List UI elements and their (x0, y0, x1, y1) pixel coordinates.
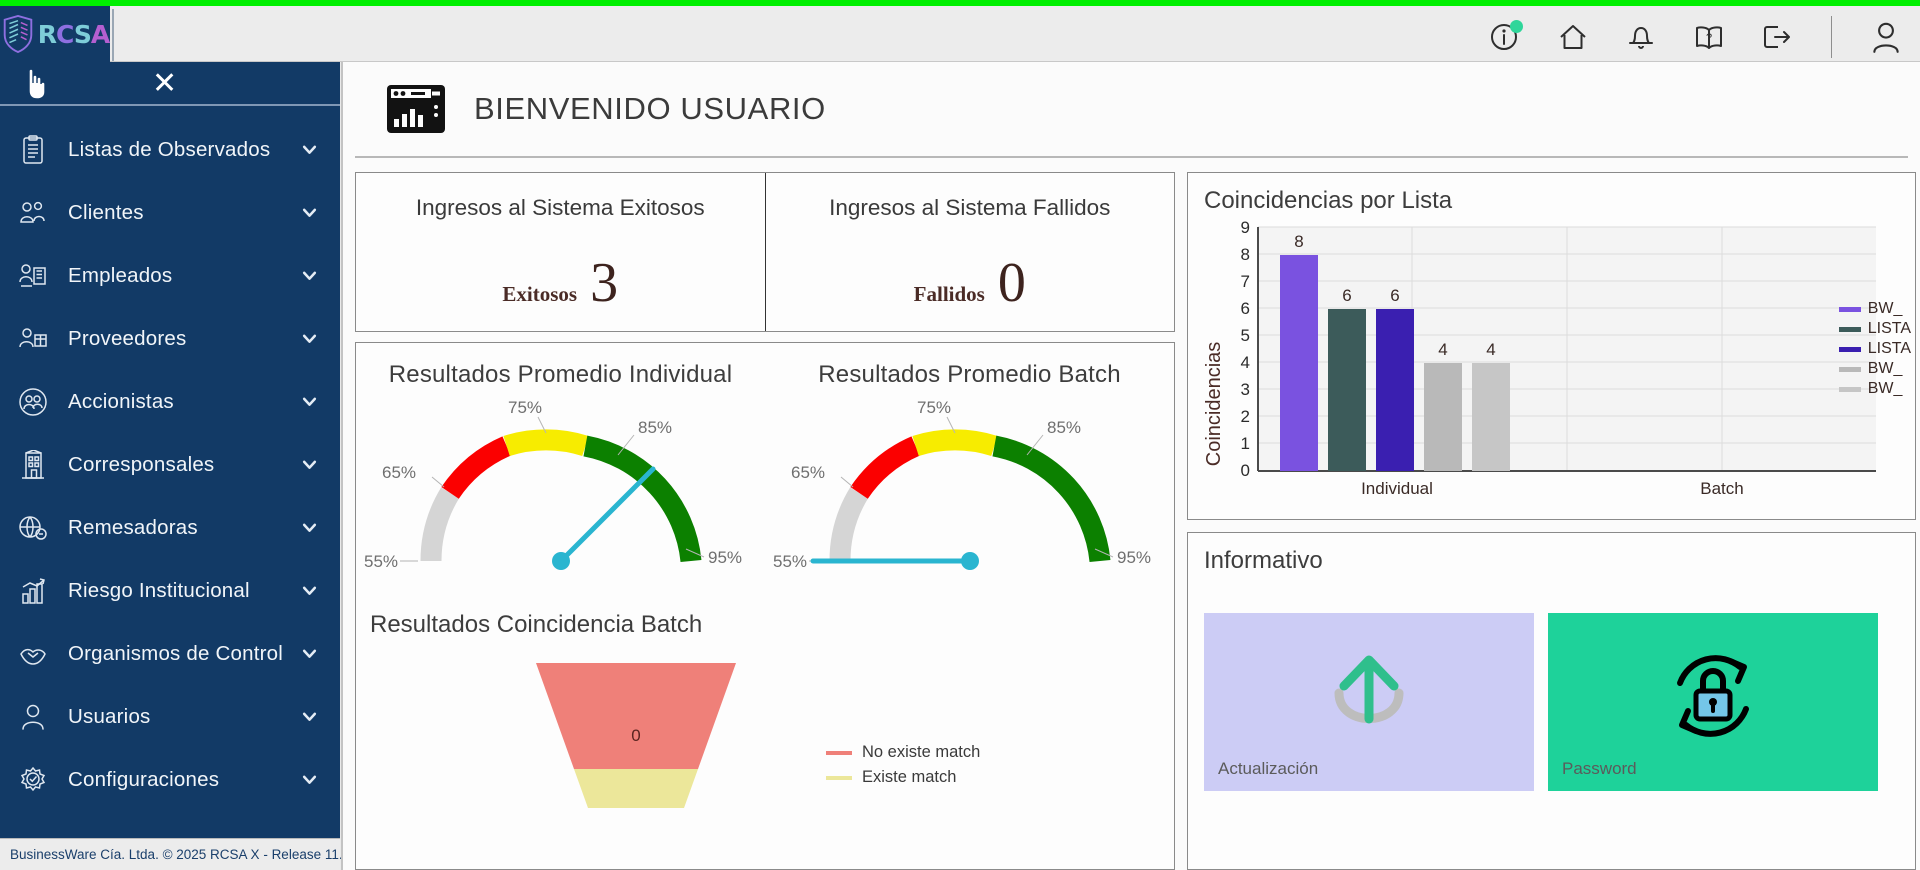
upload-arrow-icon (1204, 641, 1534, 751)
funnel-legend: No existe match Existe match (826, 743, 980, 793)
legend-item[interactable]: No existe match (826, 743, 980, 762)
brand-logo-text: RCSA (38, 22, 109, 47)
tile-password[interactable]: Password (1548, 613, 1878, 791)
supplier-box-icon (14, 322, 52, 356)
svg-text:?: ? (1706, 32, 1712, 44)
chevron-down-icon[interactable] (301, 204, 318, 221)
legend-swatch (826, 776, 852, 780)
legend-label: LISTA (1868, 320, 1911, 338)
legend-label: BW_ (1868, 300, 1903, 318)
svg-text:7: 7 (1241, 272, 1250, 291)
kpi-title: Ingresos al Sistema Fallidos (829, 195, 1110, 221)
pointer-cursor-icon (22, 68, 48, 100)
bar-chart-title: Coincidencias por Lista (1204, 187, 1915, 215)
legend-item[interactable]: BW_ (1839, 299, 1911, 319)
shareholders-circle-icon (14, 385, 52, 419)
bar-chart-legend: BW_ LISTA LISTA BW_ (1839, 299, 1911, 399)
funnel-chart-title: Resultados Coincidencia Batch (370, 611, 702, 639)
sidebar-item-usuarios[interactable]: Usuarios (0, 685, 340, 748)
gauge-tick-65: 65% (791, 463, 825, 482)
brand-logo[interactable]: RCSA (0, 6, 110, 62)
funnel-chart-svg: 0 (476, 663, 796, 863)
bar-value-label: 4 (1486, 340, 1495, 359)
gauge-tick-95: 95% (1117, 548, 1151, 567)
sidebar-item-label: Usuarios (68, 705, 301, 729)
sidebar-item-label: Organismos de Control (68, 642, 301, 666)
svg-text:4: 4 (1241, 353, 1250, 372)
tile-label: Password (1562, 759, 1637, 779)
bar-value-label: 6 (1390, 286, 1399, 305)
legend-item[interactable]: BW_ (1839, 359, 1911, 379)
clipboard-list-icon (14, 133, 52, 167)
legend-swatch (1839, 387, 1861, 392)
kpi-title: Ingresos al Sistema Exitosos (416, 195, 705, 221)
funnel-segment-existe-match (574, 769, 698, 808)
chevron-down-icon[interactable] (301, 771, 318, 788)
manual-icon[interactable]: ? (1689, 17, 1729, 57)
funnel-data-label: 0 (631, 726, 640, 745)
gauge-needle (552, 469, 653, 570)
sidebar-item-remesadoras[interactable]: Remesadoras (0, 496, 340, 559)
sidebar-header: ✕ (0, 62, 340, 106)
legend-item[interactable]: LISTA (1839, 319, 1911, 339)
legend-swatch (1839, 327, 1861, 332)
bar-chart-svg: Coincidencias (1202, 219, 1892, 509)
svg-text:6: 6 (1241, 299, 1250, 318)
gauge-svg: 55% 65% 75% 85% 95% (765, 391, 1175, 601)
globe-money-icon (14, 511, 52, 545)
welcome-header: BIENVENIDO USUARIO (355, 62, 1908, 158)
gauge-tick-55: 55% (773, 552, 807, 571)
legend-label: BW_ (1868, 360, 1903, 378)
bar-category-label: Individual (1361, 479, 1433, 498)
chevron-down-icon[interactable] (301, 141, 318, 158)
chevron-down-icon[interactable] (301, 393, 318, 410)
svg-text:9: 9 (1241, 219, 1250, 237)
svg-text:2: 2 (1241, 407, 1250, 426)
users-group-icon (14, 196, 52, 230)
legend-label: No existe match (862, 743, 980, 762)
legend-label: BW_ (1868, 380, 1903, 398)
bar-bw-2 (1424, 363, 1462, 471)
informativo-tiles: Actualización (1204, 613, 1915, 791)
kpi-ingresos-exitosos: Ingresos al Sistema Exitosos Exitosos 3 (356, 173, 765, 331)
chevron-down-icon[interactable] (301, 456, 318, 473)
rcsa-shield-icon (1, 15, 35, 53)
header-divider (1831, 16, 1832, 58)
logo-letter-a: A (91, 20, 109, 49)
sidebar-item-organismos-de-control[interactable]: Organismos de Control (0, 622, 340, 685)
sidebar-item-label: Accionistas (68, 390, 301, 414)
home-icon[interactable] (1553, 17, 1593, 57)
kpi-value: 3 (590, 261, 618, 306)
legend-item[interactable]: BW_ (1839, 379, 1911, 399)
sidebar-item-label: Riesgo Institucional (68, 579, 301, 603)
chevron-down-icon[interactable] (301, 330, 318, 347)
svg-text:5: 5 (1241, 326, 1250, 345)
dashboard-right-column: Coincidencias por Lista Coincidencias (1187, 172, 1916, 870)
bar-lista-1 (1328, 309, 1366, 471)
legend-swatch (1839, 307, 1861, 312)
sidebar-item-listas-de-observados[interactable]: Listas de Observados (0, 118, 340, 181)
info-icon[interactable] (1485, 17, 1525, 57)
dashboard-left-column: Ingresos al Sistema Exitosos Exitosos 3 … (355, 172, 1175, 870)
sidebar-item-label: Listas de Observados (68, 138, 301, 162)
bar-value-label: 4 (1438, 340, 1447, 359)
gauge-resultados-promedio-individual: Resultados Promedio Individual (356, 343, 765, 613)
gauge-tick-65: 65% (382, 463, 416, 482)
legend-item[interactable]: LISTA (1839, 339, 1911, 359)
user-avatar-icon[interactable] (1866, 17, 1906, 57)
main-sidebar: ✕ Listas de Observados Clientes (0, 62, 340, 870)
bank-building-icon (14, 448, 52, 482)
gauge-title: Resultados Promedio Batch (765, 343, 1174, 389)
tile-actualizacion[interactable]: Actualización (1204, 613, 1534, 791)
legend-swatch (1839, 347, 1861, 352)
sidebar-item-corresponsales[interactable]: Corresponsales (0, 433, 340, 496)
sidebar-item-riesgo-institucional[interactable]: Riesgo Institucional (0, 559, 340, 622)
gauge-tick-55: 55% (364, 552, 398, 571)
svg-text:0: 0 (1241, 461, 1250, 480)
kpi-ingresos-fallidos: Ingresos al Sistema Fallidos Fallidos 0 (765, 173, 1175, 331)
kpi-value: 0 (998, 261, 1026, 306)
legend-swatch (1839, 367, 1861, 372)
password-refresh-lock-icon (1548, 641, 1878, 751)
logo-letter-s: S (74, 20, 91, 49)
gauge-title: Resultados Promedio Individual (356, 343, 765, 389)
coincidencias-por-lista-card: Coincidencias por Lista Coincidencias (1187, 172, 1916, 520)
informativo-card: Informativo Actualización (1187, 532, 1916, 870)
main-content: BIENVENIDO USUARIO Ingresos al Sistema E… (341, 62, 1920, 870)
sidebar-item-clientes[interactable]: Clientes (0, 181, 340, 244)
bar-value-label: 6 (1342, 286, 1351, 305)
tile-label: Actualización (1218, 759, 1318, 779)
sidebar-item-label: Configuraciones (68, 768, 301, 792)
funnel-segment-no-existe-match (536, 663, 736, 769)
gauge-tick-75: 75% (917, 398, 951, 417)
sidebar-item-label: Corresponsales (68, 453, 301, 477)
chevron-down-icon[interactable] (301, 519, 318, 536)
user-icon (14, 700, 52, 734)
gauge-svg: 55% 65% 75% 85% 95% (356, 391, 766, 601)
gear-check-icon (14, 763, 52, 797)
sidebar-footer-copyright: BusinessWare Cía. Ltda. © 2025 RCSA X - … (0, 838, 340, 870)
legend-swatch (826, 751, 852, 755)
gauge-resultados-promedio-batch: Resultados Promedio Batch (765, 343, 1174, 613)
bar-chart-ylabel: Coincidencias (1203, 342, 1225, 467)
kpi-subtitle: Fallidos (914, 282, 985, 307)
chevron-down-icon[interactable] (301, 645, 318, 662)
kpi-card-group: Ingresos al Sistema Exitosos Exitosos 3 … (355, 172, 1175, 332)
sidebar-item-label: Clientes (68, 201, 301, 225)
legend-item[interactable]: Existe match (826, 768, 980, 787)
employee-badge-icon (14, 259, 52, 293)
sidebar-item-configuraciones[interactable]: Configuraciones (0, 748, 340, 811)
info-badge-dot (1510, 20, 1523, 33)
header-icon-bar: ? (1485, 12, 1920, 62)
svg-text:8: 8 (1241, 245, 1250, 264)
handshake-icon (14, 637, 52, 671)
page-title: BIENVENIDO USUARIO (474, 91, 826, 127)
chevron-down-icon[interactable] (301, 267, 318, 284)
informativo-title: Informativo (1204, 547, 1915, 575)
bar-category-label: Batch (1700, 479, 1743, 498)
gauge-tick-85: 85% (1047, 418, 1081, 437)
sidebar-item-label: Remesadoras (68, 516, 301, 540)
dashboard-window-icon (385, 81, 447, 137)
bell-icon[interactable] (1621, 17, 1661, 57)
logo-letter-r: R (38, 20, 56, 49)
svg-text:3: 3 (1241, 380, 1250, 399)
legend-label: LISTA (1868, 340, 1911, 358)
bar-lista-2 (1376, 309, 1414, 471)
sidebar-item-accionistas[interactable]: Accionistas (0, 370, 340, 433)
kpi-subtitle: Exitosos (502, 282, 577, 307)
bar-bw-3 (1472, 363, 1510, 471)
sidebar-item-proveedores[interactable]: Proveedores (0, 307, 340, 370)
logout-icon[interactable] (1757, 17, 1797, 57)
bar-value-label: 8 (1294, 232, 1303, 251)
bar-chart-risk-icon (14, 574, 52, 608)
sidebar-nav: Listas de Observados Clientes Empleados (0, 106, 340, 811)
kpi-value-row: Fallidos 0 (914, 261, 1026, 307)
legend-label: Existe match (862, 768, 956, 787)
chevron-down-icon[interactable] (301, 582, 318, 599)
sidebar-close-button[interactable]: ✕ (152, 66, 177, 102)
bar-bw-1 (1280, 255, 1318, 471)
gauge-tick-95: 95% (708, 548, 742, 567)
gauges-and-funnel-card: Resultados Promedio Individual (355, 342, 1175, 870)
application-topbar: RCSA ? (0, 6, 1920, 62)
chevron-down-icon[interactable] (301, 708, 318, 725)
sidebar-item-empleados[interactable]: Empleados (0, 244, 340, 307)
dashboard-columns: Ingresos al Sistema Exitosos Exitosos 3 … (343, 162, 1920, 870)
svg-text:1: 1 (1241, 434, 1250, 453)
gauge-row: Resultados Promedio Individual (356, 343, 1174, 613)
kpi-value-row: Exitosos 3 (502, 261, 618, 307)
sidebar-item-label: Proveedores (68, 327, 301, 351)
gauge-tick-75: 75% (508, 398, 542, 417)
sidebar-item-label: Empleados (68, 264, 301, 288)
logo-letter-c: C (56, 20, 74, 49)
gauge-tick-85: 85% (638, 418, 672, 437)
